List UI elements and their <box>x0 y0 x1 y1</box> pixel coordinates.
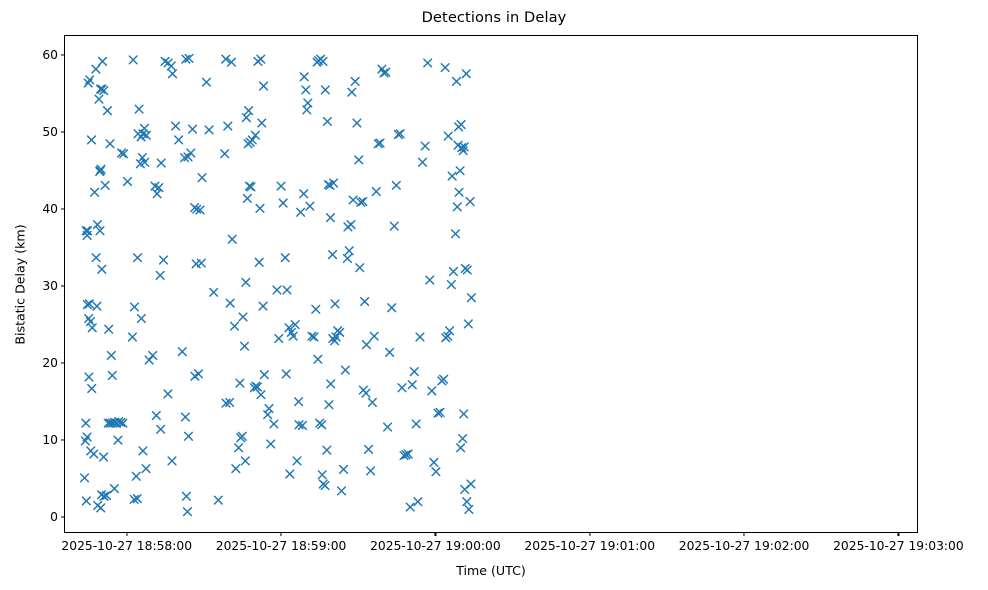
scatter-point <box>98 265 106 273</box>
scatter-point <box>323 446 331 454</box>
scatter-point <box>419 158 427 166</box>
scatter-point <box>265 405 273 413</box>
x-axis-label: Time (UTC) <box>64 563 918 578</box>
scatter-point <box>344 255 352 263</box>
scatter-point <box>452 230 460 238</box>
chart-figure: Detections in Delay Bistatic Delay (km) … <box>0 0 988 590</box>
scatter-point <box>260 82 268 90</box>
scatter-point <box>141 125 149 133</box>
scatter-point <box>184 508 192 516</box>
scatter-point <box>226 299 234 307</box>
scatter-point <box>327 380 335 388</box>
scatter-point <box>195 370 203 378</box>
scatter-point <box>88 385 96 393</box>
scatter-point <box>88 136 96 144</box>
scatter-point <box>424 59 432 67</box>
scatter-point <box>367 467 375 475</box>
y-axis-tick-mark <box>61 440 65 441</box>
scatter-point <box>224 122 232 130</box>
scatter-point <box>372 188 380 196</box>
scatter-point <box>244 195 252 203</box>
x-axis-tick-mark <box>281 532 282 536</box>
scatter-point <box>245 107 253 115</box>
scatter-point <box>256 205 264 213</box>
y-axis-tick-mark <box>61 363 65 364</box>
scatter-point <box>428 387 436 395</box>
scatter-point <box>228 235 236 243</box>
scatter-point <box>448 172 456 180</box>
scatter-point <box>242 114 250 122</box>
scatter-point <box>406 503 414 511</box>
scatter-point <box>325 401 333 409</box>
scatter-point <box>101 181 109 189</box>
scatter-point <box>273 286 281 294</box>
scatter-point <box>97 504 105 512</box>
scatter-point <box>430 459 438 467</box>
scatter-point <box>349 196 357 204</box>
scatter-point <box>95 95 103 103</box>
y-axis-tick-mark <box>61 209 65 210</box>
scatter-point <box>198 174 206 182</box>
scatter-point <box>362 389 370 397</box>
scatter-point <box>270 420 278 428</box>
scatter-point <box>463 498 471 506</box>
scatter-point <box>169 70 177 78</box>
scatter-point <box>361 298 369 306</box>
scatter-point <box>277 182 285 190</box>
scatter-point <box>185 432 193 440</box>
scatter-point <box>303 106 311 114</box>
scatter-point <box>456 167 464 175</box>
scatter-point <box>363 341 371 349</box>
scatter-point <box>384 423 392 431</box>
scatter-point <box>187 149 195 157</box>
y-axis-tick-mark <box>61 517 65 518</box>
scatter-point <box>175 136 183 144</box>
scatter-point <box>454 141 462 149</box>
scatter-point <box>327 214 335 222</box>
scatter-point <box>408 381 416 389</box>
scatter-point <box>467 480 475 488</box>
scatter-point <box>131 303 139 311</box>
scatter-point <box>441 64 449 72</box>
scatter-point <box>468 294 476 302</box>
scatter-point <box>267 440 275 448</box>
scatter-point <box>138 315 146 323</box>
scatter-point <box>318 471 326 479</box>
scatter-point <box>139 447 147 455</box>
scatter-point <box>444 132 452 140</box>
scatter-point <box>312 305 320 313</box>
scatter-point <box>258 119 266 127</box>
scatter-point <box>281 254 289 262</box>
scatter-point <box>167 62 175 70</box>
x-axis-tick-mark <box>898 532 899 536</box>
scatter-point <box>210 288 218 296</box>
scatter-point <box>197 259 205 267</box>
scatter-point <box>129 333 137 341</box>
scatter-point <box>90 450 98 458</box>
scatter-point <box>182 413 190 421</box>
scatter-point <box>149 352 157 360</box>
x-axis-tick-mark <box>589 532 590 536</box>
scatter-point <box>132 472 140 480</box>
scatter-point <box>286 470 294 478</box>
scatter-series <box>65 36 919 534</box>
scatter-point <box>344 223 352 231</box>
y-axis-tick-mark <box>61 55 65 56</box>
scatter-point <box>457 121 465 129</box>
scatter-point <box>239 313 247 321</box>
scatter-point <box>345 247 353 255</box>
scatter-point <box>142 465 150 473</box>
scatter-point <box>231 322 239 330</box>
scatter-point <box>157 425 165 433</box>
scatter-point <box>92 254 100 262</box>
y-axis-tick-mark <box>61 286 65 287</box>
scatter-point <box>465 506 473 514</box>
scatter-point <box>342 366 350 374</box>
scatter-point <box>134 254 142 262</box>
scatter-point <box>99 58 107 66</box>
scatter-point <box>255 258 263 266</box>
scatter-point <box>329 251 337 259</box>
scatter-point <box>248 136 256 144</box>
scatter-point <box>232 465 240 473</box>
scatter-point <box>398 384 406 392</box>
scatter-point <box>203 78 211 86</box>
scatter-point <box>432 468 440 476</box>
scatter-point <box>83 497 91 505</box>
scatter-point <box>370 332 378 340</box>
scatter-point <box>295 398 303 406</box>
scatter-point <box>351 78 359 86</box>
scatter-point <box>321 86 329 94</box>
y-axis-label: Bistatic Delay (km) <box>11 35 29 533</box>
scatter-point <box>100 453 108 461</box>
scatter-point <box>466 198 474 206</box>
scatter-point <box>390 222 398 230</box>
x-axis-tick-mark <box>126 532 127 536</box>
scatter-point <box>85 373 93 381</box>
scatter-point <box>168 457 176 465</box>
scatter-point <box>87 318 95 326</box>
scatter-point <box>241 457 249 465</box>
y-axis-label-text: Bistatic Delay (km) <box>13 224 28 344</box>
scatter-point <box>257 55 265 63</box>
scatter-point <box>235 444 243 452</box>
scatter-point <box>300 73 308 81</box>
x-axis-tick-mark <box>435 532 436 536</box>
scatter-point <box>340 465 348 473</box>
scatter-point <box>392 181 400 189</box>
scatter-point <box>356 264 364 272</box>
scatter-point <box>348 88 356 96</box>
scatter-point <box>464 320 472 328</box>
scatter-point <box>108 372 116 380</box>
scatter-point <box>152 412 160 420</box>
scatter-point <box>242 278 250 286</box>
scatter-point <box>331 300 339 308</box>
scatter-point <box>251 131 259 139</box>
scatter-point <box>388 304 396 312</box>
scatter-point <box>279 199 287 207</box>
scatter-point <box>135 105 143 113</box>
scatter-point <box>414 498 422 506</box>
scatter-point <box>172 122 180 130</box>
scatter-point <box>453 203 461 211</box>
scatter-point <box>365 445 373 453</box>
scatter-point <box>412 420 420 428</box>
scatter-point <box>107 352 115 360</box>
scatter-point <box>306 202 314 210</box>
scatter-point <box>236 379 244 387</box>
scatter-point <box>282 370 290 378</box>
scatter-point <box>457 444 465 452</box>
scatter-point <box>259 302 267 310</box>
scatter-point <box>241 342 249 350</box>
scatter-point <box>153 190 161 198</box>
y-axis-tick-mark <box>61 132 65 133</box>
scatter-point <box>82 419 90 427</box>
scatter-point <box>134 130 142 138</box>
scatter-point <box>416 333 424 341</box>
scatter-point <box>426 276 434 284</box>
scatter-point <box>450 268 458 276</box>
scatter-point <box>189 125 197 133</box>
scatter-point <box>369 399 377 407</box>
scatter-point <box>129 56 137 64</box>
scatter-points-layer <box>65 36 919 534</box>
scatter-point <box>275 335 283 343</box>
scatter-point <box>283 286 291 294</box>
scatter-point <box>300 190 308 198</box>
scatter-point <box>81 474 89 482</box>
scatter-point <box>261 371 269 379</box>
scatter-point <box>455 188 463 196</box>
scatter-point <box>355 156 363 164</box>
scatter-point <box>164 390 172 398</box>
scatter-point <box>386 348 394 356</box>
scatter-point <box>453 78 461 86</box>
scatter-point <box>257 391 265 399</box>
scatter-point <box>460 410 468 418</box>
scatter-point <box>205 126 213 134</box>
scatter-point <box>157 159 165 167</box>
scatter-point <box>91 188 99 196</box>
scatter-point <box>214 496 222 504</box>
scatter-point <box>421 142 429 150</box>
scatter-point <box>459 435 467 443</box>
scatter-point <box>462 70 470 78</box>
scatter-point <box>221 150 229 158</box>
scatter-point <box>410 368 418 376</box>
chart-title: Detections in Delay <box>0 9 988 26</box>
scatter-point <box>178 348 186 356</box>
scatter-point <box>338 487 346 495</box>
scatter-point <box>314 355 322 363</box>
scatter-point <box>124 178 132 186</box>
scatter-point <box>93 302 101 310</box>
scatter-point <box>324 118 332 126</box>
scatter-point <box>183 492 191 500</box>
scatter-point <box>111 485 119 493</box>
scatter-point <box>297 208 305 216</box>
scatter-point <box>160 256 168 264</box>
scatter-point <box>302 86 310 94</box>
x-axis-tick-mark <box>744 532 745 536</box>
plot-area: 01020304050602025-10-27 18:58:002025-10-… <box>64 35 918 533</box>
scatter-point <box>156 272 164 280</box>
scatter-point <box>88 324 96 332</box>
scatter-point <box>448 281 456 289</box>
scatter-point <box>114 436 122 444</box>
scatter-point <box>104 107 112 115</box>
scatter-point <box>86 76 94 84</box>
scatter-point <box>106 140 114 148</box>
scatter-point <box>293 457 301 465</box>
scatter-point <box>353 119 361 127</box>
scatter-point <box>105 325 113 333</box>
scatter-point <box>92 65 100 73</box>
